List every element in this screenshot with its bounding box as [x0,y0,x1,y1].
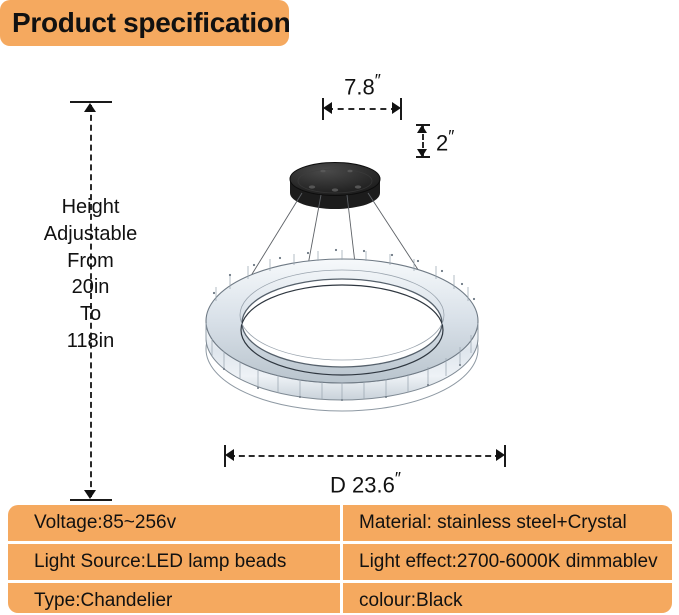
spec-colour: colour:Black [340,583,672,613]
table-row: Voltage:85~256v Material: stainless stee… [8,505,672,541]
chandelier-svg [190,101,520,451]
ring-diameter-label: D 23.6″ [224,468,506,498]
chandelier-illustration [190,101,520,451]
table-row: Type:Chandelier colour:Black [8,580,672,613]
height-label-line-5: To [18,301,163,328]
height-adjustable-label: Height Adjustable From 20in To 118in [18,194,163,355]
product-diagram: Height Adjustable From 20in To 118in 7.8… [0,46,679,496]
specification-table: Voltage:85~256v Material: stainless stee… [8,505,672,613]
ring-diameter-prefix: D [330,472,352,497]
spec-material: Material: stainless steel+Crystal [340,505,672,541]
ring-diameter-dimension-line [224,445,506,467]
crystal-ring-icon [206,249,478,411]
canopy-diameter-value: 7.8 [344,74,375,99]
ceiling-canopy-icon [290,163,380,210]
product-specification-page: Product specification Height Adjustable … [0,0,679,615]
arrow-up-icon [84,103,96,112]
spec-type: Type:Chandelier [8,583,340,613]
height-label-line-6: 118in [18,328,163,355]
arrow-down-icon [84,490,96,499]
canopy-diameter-label: 7.8″ [322,70,402,100]
page-title-badge: Product specification [0,0,289,46]
height-label-line-2: Adjustable [18,221,163,248]
ring-diameter-value: 23.6 [352,472,395,497]
height-label-line-4: 20in [18,274,163,301]
inch-mark-icon: ″ [395,468,400,488]
arrow-left-icon [225,449,234,461]
arrow-right-icon [496,449,505,461]
page-title: Product specification [12,9,290,37]
spec-voltage: Voltage:85~256v [8,505,340,541]
height-label-line-3: From [18,248,163,275]
height-label-line-1: Height [18,194,163,221]
dimension-cap-bottom [70,499,112,501]
table-row: Light Source:LED lamp beads Light effect… [8,541,672,580]
spec-light-effect: Light effect:2700-6000K dimmablev [340,544,672,580]
dimension-dashed-line [229,455,501,457]
inch-mark-icon: ″ [375,70,380,90]
spec-light-source: Light Source:LED lamp beads [8,544,340,580]
